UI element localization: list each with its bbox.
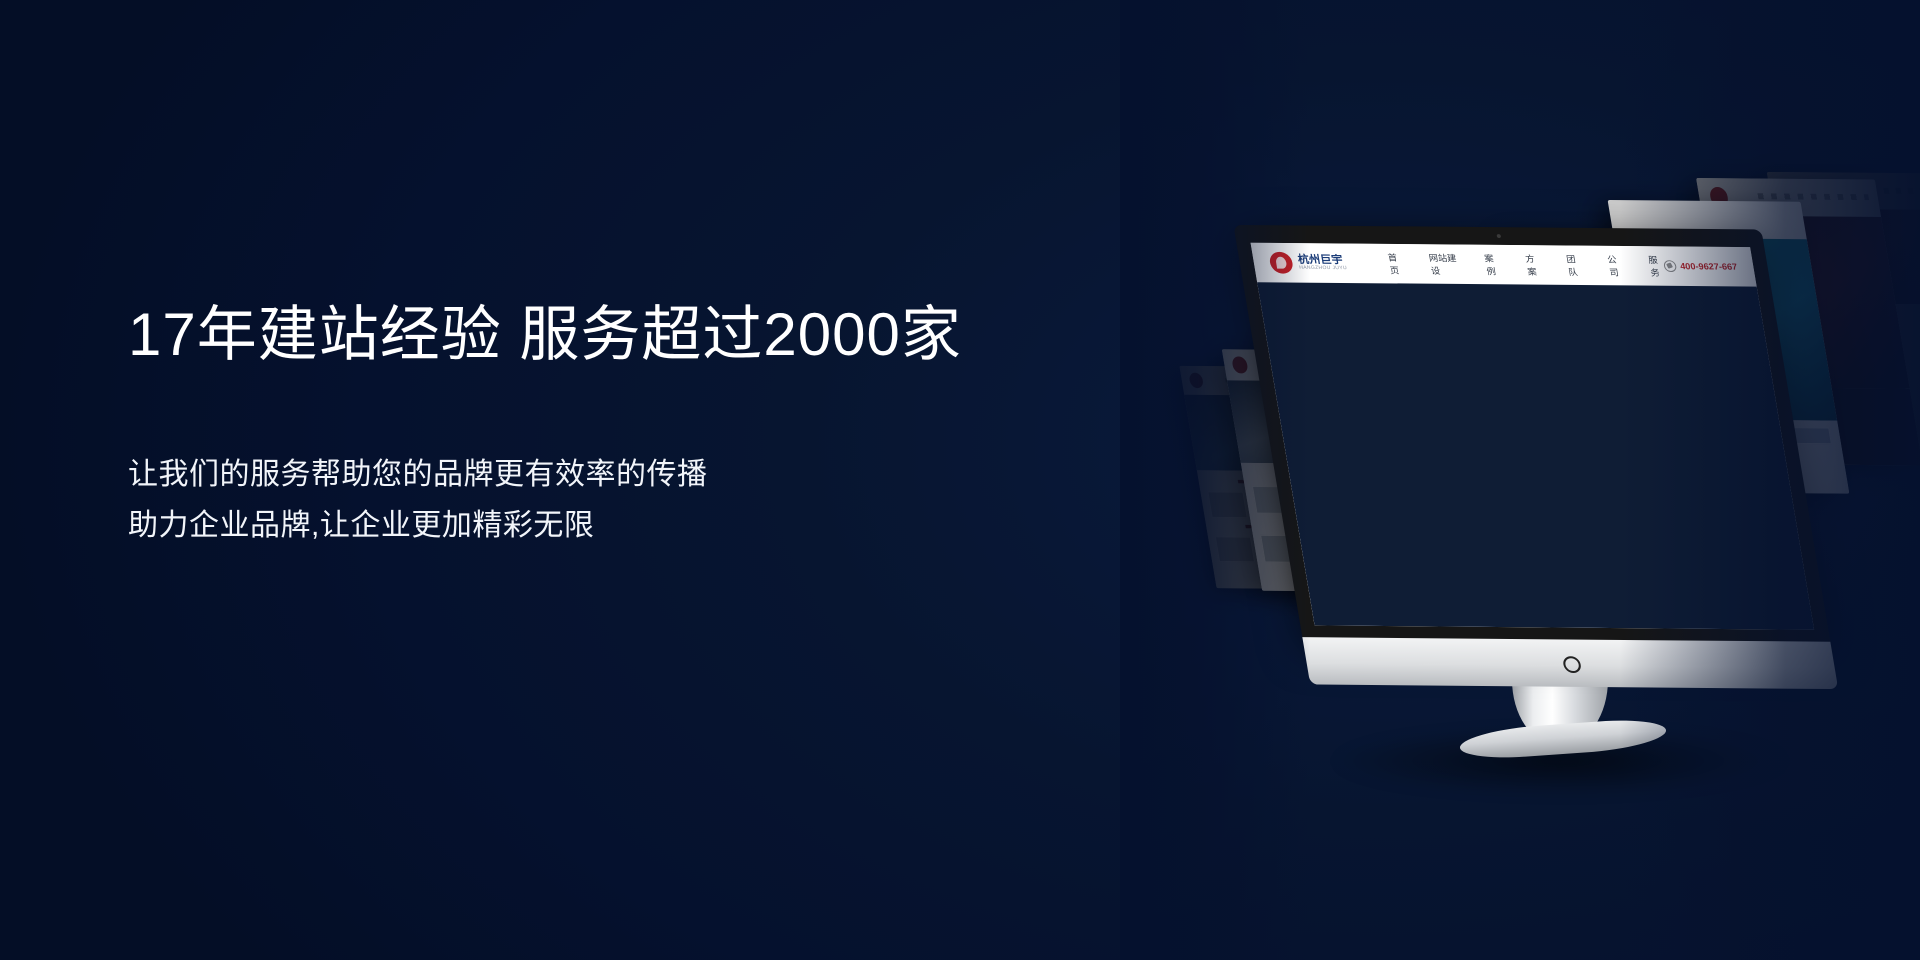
- site-logo-text: 杭州巨宇 HANGZHOU JUYU: [1297, 255, 1347, 272]
- subtitle-line-2: 助力企业品牌,让企业更加精彩无限: [128, 500, 1078, 552]
- monitor-screen: 杭州巨宇 HANGZHOU JUYU 首页 网站建设 案例 方案 团队 公司 服…: [1251, 243, 1815, 630]
- site-navbar: 杭州巨宇 HANGZHOU JUYU 首页 网站建设 案例 方案 团队 公司 服…: [1251, 243, 1757, 287]
- site-logo-label: 杭州巨宇: [1297, 254, 1344, 266]
- site-phone: 400-9627-667: [1663, 260, 1738, 272]
- monitor: 杭州巨宇 HANGZHOU JUYU 首页 网站建设 案例 方案 团队 公司 服…: [1233, 225, 1830, 644]
- menu-item-cases[interactable]: 案例: [1483, 252, 1502, 278]
- monitor-bezel: 杭州巨宇 HANGZHOU JUYU 首页 网站建设 案例 方案 团队 公司 服…: [1233, 225, 1830, 644]
- site-logo-icon: [1268, 252, 1294, 274]
- site-menu: 首页 网站建设 案例 方案 团队 公司 服务: [1387, 251, 1666, 279]
- menu-item-team[interactable]: 团队: [1565, 252, 1584, 278]
- webcam-icon: [1496, 234, 1501, 238]
- site-logo-sublabel: HANGZHOU JUYU: [1299, 266, 1348, 272]
- menu-item-company[interactable]: 公司: [1606, 253, 1625, 279]
- monitor-logo-mark: [1562, 656, 1582, 673]
- monitor-chin: [1302, 637, 1838, 689]
- hero-subtitle: 让我们的服务帮助您的品牌更有效率的传播 助力企业品牌,让企业更加精彩无限: [128, 449, 1078, 552]
- hero-banner: 17年建站经验 服务超过2000家 让我们的服务帮助您的品牌更有效率的传播 助力…: [0, 0, 1920, 960]
- menu-item-home[interactable]: 首页: [1387, 251, 1406, 277]
- phone-number: 400-9627-667: [1679, 261, 1738, 271]
- menu-item-build[interactable]: 网站建设: [1428, 251, 1461, 277]
- page-title: 17年建站经验 服务超过2000家: [128, 300, 1078, 371]
- hero-copy: 17年建站经验 服务超过2000家 让我们的服务帮助您的品牌更有效率的传播 助力…: [128, 300, 1078, 552]
- hero-visual: 10 6000: [1180, 170, 1920, 810]
- subtitle-line-1: 让我们的服务帮助您的品牌更有效率的传播: [128, 449, 1078, 501]
- menu-item-plans[interactable]: 方案: [1524, 252, 1543, 278]
- monitor-screen-content: [1257, 282, 1814, 630]
- phone-icon: [1663, 260, 1677, 272]
